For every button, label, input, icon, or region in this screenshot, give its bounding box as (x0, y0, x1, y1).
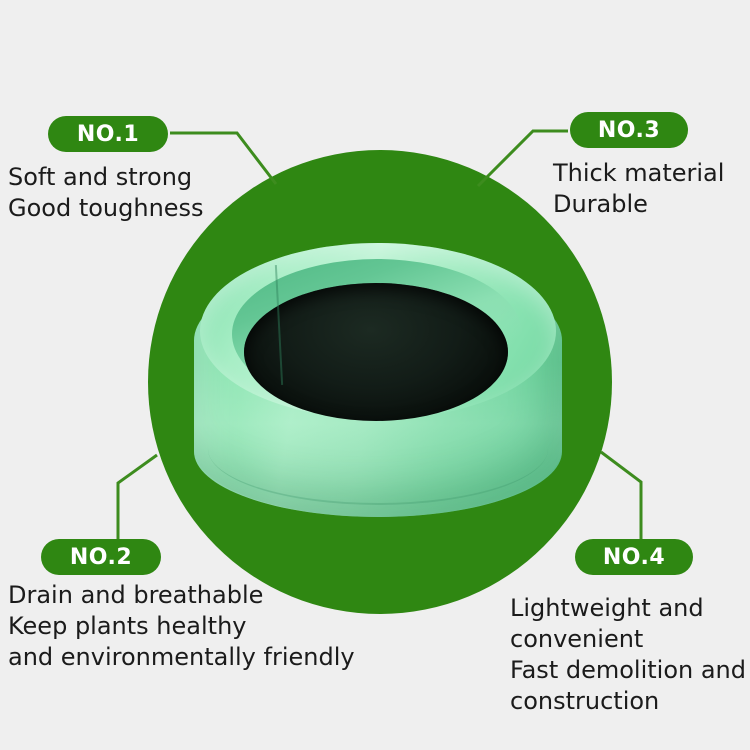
connector-line-4 (601, 452, 641, 541)
feature-text-3: Thick material Durable (553, 158, 750, 220)
feature-text-4: Lightweight and convenient Fast demoliti… (510, 593, 750, 717)
badge-no-3: NO.3 (570, 112, 688, 148)
feature-text-1: Soft and strong Good toughness (8, 162, 308, 224)
badge-no-4: NO.4 (575, 539, 693, 575)
feature-text-2: Drain and breathable Keep plants healthy… (8, 580, 408, 673)
connector-line-2 (118, 455, 157, 541)
badge-no-2: NO.2 (41, 539, 161, 575)
badge-no-1: NO.1 (48, 116, 168, 152)
product-feature-infographic: NO.1 Soft and strong Good toughness NO.2… (0, 0, 750, 750)
